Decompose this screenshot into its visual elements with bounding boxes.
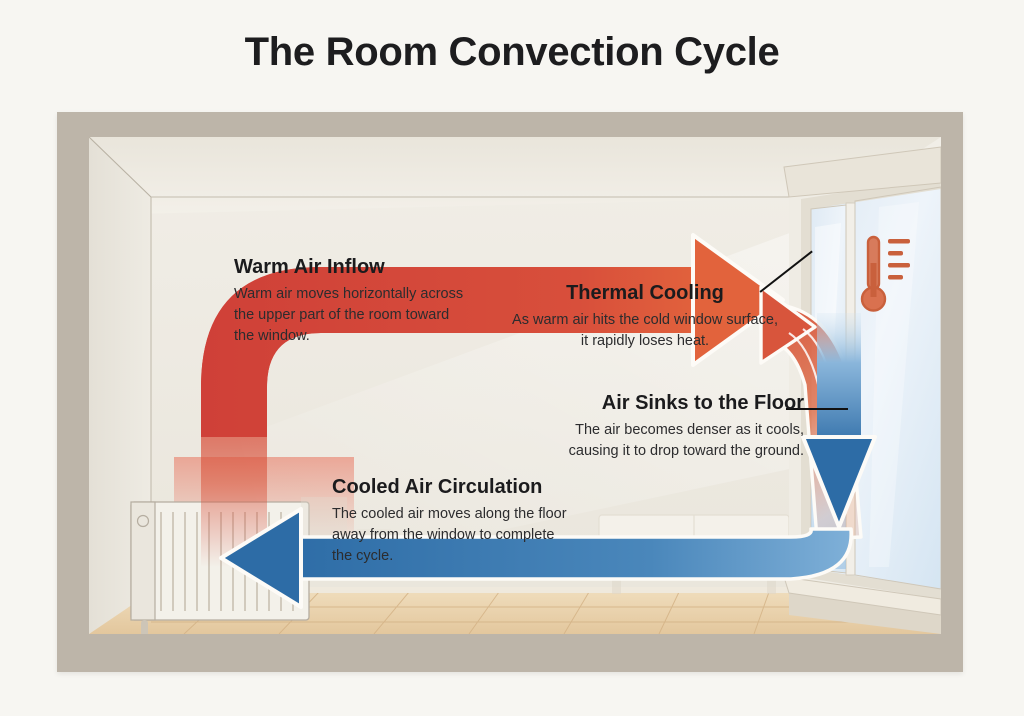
callout-heading: Warm Air Inflow xyxy=(234,256,464,279)
callout-air-sinks-to-the-floor: Air Sinks to the Floor The air becomes d… xyxy=(542,392,804,462)
callout-body: The cooled air moves along the floor awa… xyxy=(332,504,577,567)
callout-warm-air-inflow: Warm Air Inflow Warm air moves horizonta… xyxy=(234,256,464,347)
callout-body: Warm air moves horizontally across the u… xyxy=(234,284,464,347)
callout-heading: Thermal Cooling xyxy=(512,282,778,305)
callout-heading: Air Sinks to the Floor xyxy=(542,392,804,415)
callout-thermal-cooling: Thermal Cooling As warm air hits the col… xyxy=(512,282,778,352)
cool-fall-shaft xyxy=(817,313,861,455)
callout-heading: Cooled Air Circulation xyxy=(332,476,577,499)
callout-cooled-air-circulation: Cooled Air Circulation The cooled air mo… xyxy=(332,476,577,567)
illustration-frame xyxy=(57,112,963,672)
callout-body: As warm air hits the cold window surface… xyxy=(512,310,778,352)
callout-body: The air becomes denser as it cools, caus… xyxy=(542,420,804,462)
page-title: The Room Convection Cycle xyxy=(0,30,1024,75)
diagram-canvas: The Room Convection Cycle xyxy=(0,0,1024,716)
